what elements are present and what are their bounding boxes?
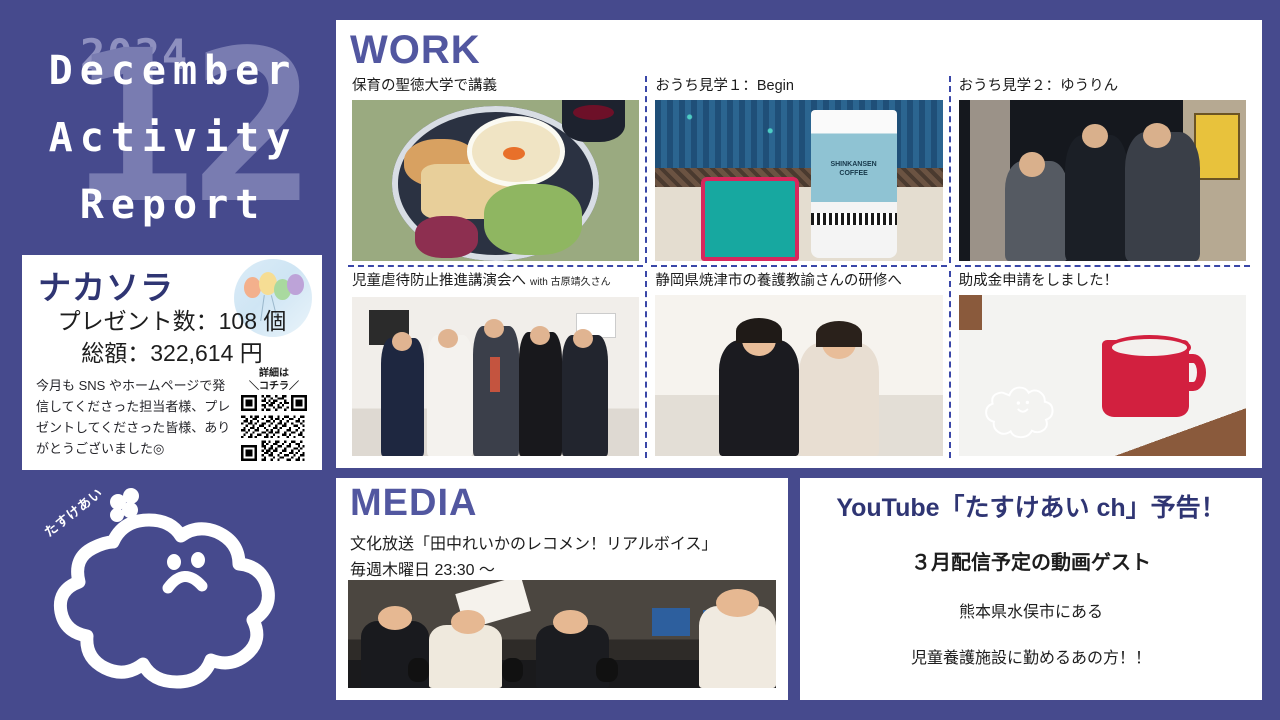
work-heading: WORK (350, 28, 481, 73)
two-women-photo (655, 295, 942, 456)
work-item-0[interactable]: 保育の聖徳大学で講義 (344, 72, 647, 267)
present-count: プレゼント数：108 個 (22, 302, 322, 336)
title-line-report: Report (18, 172, 328, 239)
three-men-night-photo (959, 100, 1246, 261)
shinkansen-coffee-photo: SHINKANSENCOFFEE (655, 100, 942, 261)
work-item-4[interactable]: 静岡県焼津市の養護教諭さんの研修へ (647, 267, 950, 462)
activity-report-page: 2024 12 December Activity Report ナカソラ プレ… (0, 0, 1280, 720)
work-item-3[interactable]: 児童虐待防止推進講演会へ with 古原靖久さん (344, 267, 647, 462)
qr-label-line1: 詳細は (238, 367, 310, 380)
red-mug-desk-photo (959, 295, 1246, 456)
title-line-month: December (18, 38, 328, 105)
youtube-subtitle: ３月配信予定の動画ゲスト (800, 546, 1262, 575)
work-caption: 静岡県焼津市の養護教諭さんの研修へ (655, 271, 942, 291)
radio-studio-photo (348, 580, 776, 688)
youtube-panel: YouTube「たすけあい ch」予告！ ３月配信予定の動画ゲスト 熊本県水俣市… (800, 478, 1262, 700)
youtube-guest-line2: 児童養護施設に勤めるあの方！！ (800, 644, 1262, 668)
youtube-guest-line1: 熊本県水俣市にある (800, 598, 1262, 622)
media-program-name: 文化放送「田中れいかのレコメン！リアルボイス」 (350, 530, 717, 554)
work-item-2[interactable]: おうち見学２：ゆうりん (951, 72, 1254, 267)
qr-code-icon[interactable] (241, 395, 307, 461)
media-heading: MEDIA (350, 482, 477, 525)
work-panel: WORK 保育の聖徳大学で講義 おうち見学１：Begin SHINKANSENC… (336, 20, 1262, 468)
qr-label-line2: ＼コチラ／ (238, 380, 310, 393)
lunch-plate-photo (352, 100, 639, 261)
work-caption: 児童虐待防止推進講演会へ with 古原靖久さん (352, 271, 639, 293)
work-caption: おうち見学２：ゆうりん (959, 76, 1246, 96)
media-panel: MEDIA 文化放送「田中れいかのレコメン！リアルボイス」 毎週木曜日 23:3… (336, 478, 788, 700)
nakasora-body-text: 今月も SNS やホームページで発信してくださった担当者様、プレゼントしてくださ… (36, 375, 236, 459)
work-caption: 保育の聖徳大学で講義 (352, 76, 639, 96)
title-line-activity: Activity (18, 105, 328, 172)
nakasora-card: ナカソラ プレゼント数：108 個 総額：322,614 円 今月も SNS や… (22, 255, 322, 470)
report-title-block: 2024 12 December Activity Report (18, 16, 328, 244)
total-amount: 総額：322,614 円 (22, 334, 322, 368)
youtube-title: YouTube「たすけあい ch」予告！ (800, 488, 1262, 524)
cloud-face-logo: たすけあい (18, 480, 318, 710)
work-caption: おうち見学１：Begin (655, 76, 942, 96)
work-item-5[interactable]: 助成金申請をしました！ (951, 267, 1254, 462)
work-item-1[interactable]: おうち見学１：Begin SHINKANSENCOFFEE (647, 72, 950, 267)
work-grid: 保育の聖徳大学で講義 おうち見学１：Begin SHINKANSENCOFFEE… (344, 72, 1254, 462)
work-caption: 助成金申請をしました！ (959, 271, 1246, 291)
page-title: December Activity Report (18, 38, 328, 239)
media-schedule: 毎週木曜日 23:30 〜 (350, 556, 495, 580)
work-caption-sub: with 古原靖久さん (530, 277, 611, 288)
qr-block[interactable]: 詳細は ＼コチラ／ (238, 367, 310, 466)
five-people-group-photo (352, 297, 639, 456)
cloud-watermark-icon (982, 376, 1062, 440)
